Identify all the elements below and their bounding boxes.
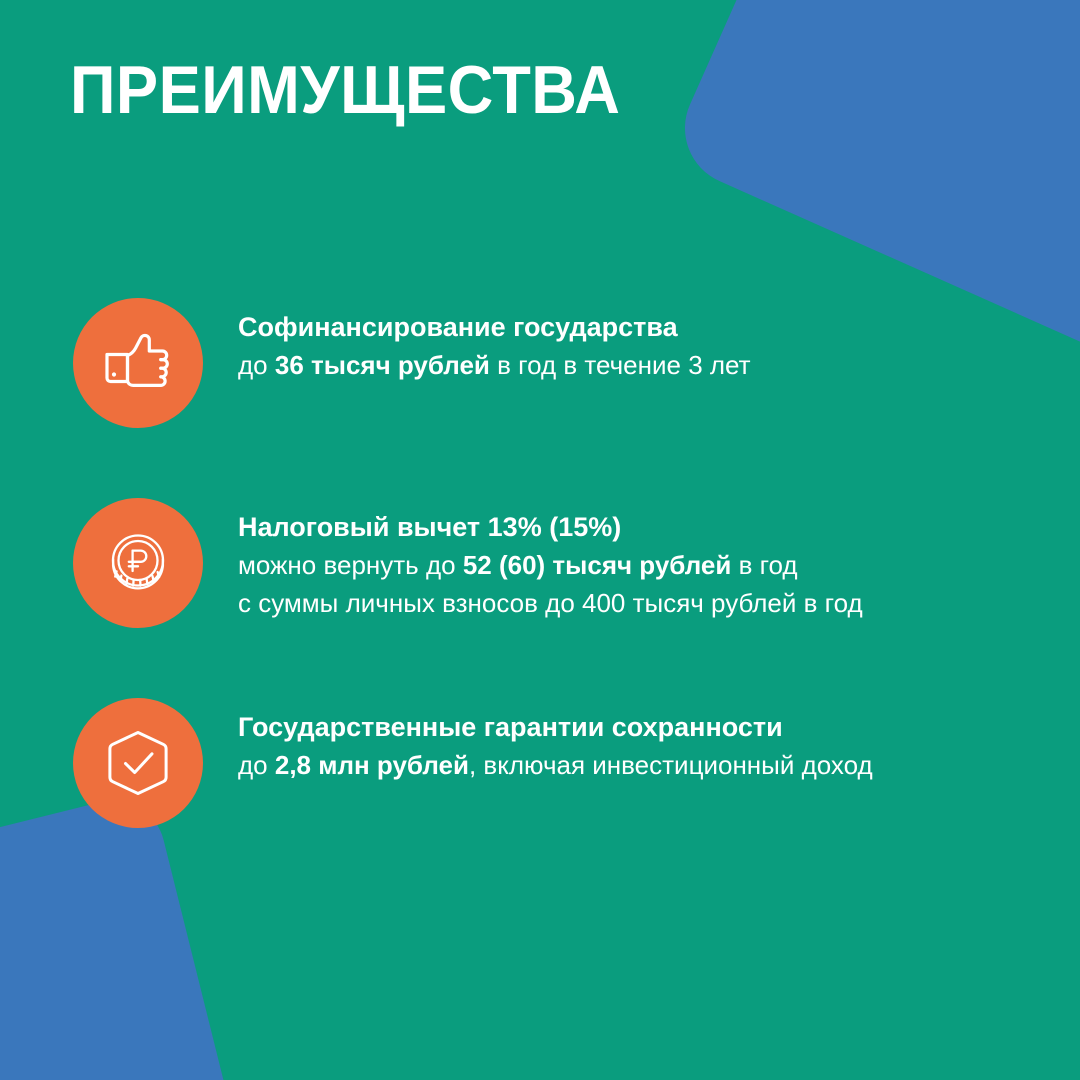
benefit-icon-badge-2 bbox=[73, 498, 203, 628]
benefit-body-2: можно вернуть до 52 (60) тысяч рублей в … bbox=[238, 546, 1028, 622]
benefit-item-1: Софинансирование государства до 36 тысяч… bbox=[0, 298, 1080, 498]
benefit-body-1: до 36 тысяч рублей в год в течение 3 лет bbox=[238, 346, 1028, 384]
benefit-icon-badge-1 bbox=[73, 298, 203, 428]
benefit-body-3: до 2,8 млн рублей, включая инвестиционны… bbox=[238, 746, 1028, 784]
ruble-coin-icon bbox=[101, 526, 175, 600]
thumbs-up-icon bbox=[100, 325, 176, 401]
page-title: ПРЕИМУЩЕСТВА bbox=[70, 52, 620, 128]
benefits-list: Софинансирование государства до 36 тысяч… bbox=[0, 298, 1080, 898]
benefit-icon-badge-3 bbox=[73, 698, 203, 828]
benefit-text-2: Налоговый вычет 13% (15%) можно вернуть … bbox=[238, 508, 1028, 622]
slide-canvas: ПРЕИМУЩЕСТВА bbox=[0, 0, 1080, 1080]
benefit-text-3: Государственные гарантии сохранности до … bbox=[238, 708, 1028, 784]
benefit-heading-3: Государственные гарантии сохранности bbox=[238, 708, 1028, 746]
benefit-item-3: Государственные гарантии сохранности до … bbox=[0, 698, 1080, 898]
hexagon-check-icon bbox=[100, 725, 176, 801]
benefit-item-2: Налоговый вычет 13% (15%) можно вернуть … bbox=[0, 498, 1080, 698]
benefit-heading-1: Софинансирование государства bbox=[238, 308, 1028, 346]
benefit-text-1: Софинансирование государства до 36 тысяч… bbox=[238, 308, 1028, 384]
benefit-heading-2: Налоговый вычет 13% (15%) bbox=[238, 508, 1028, 546]
